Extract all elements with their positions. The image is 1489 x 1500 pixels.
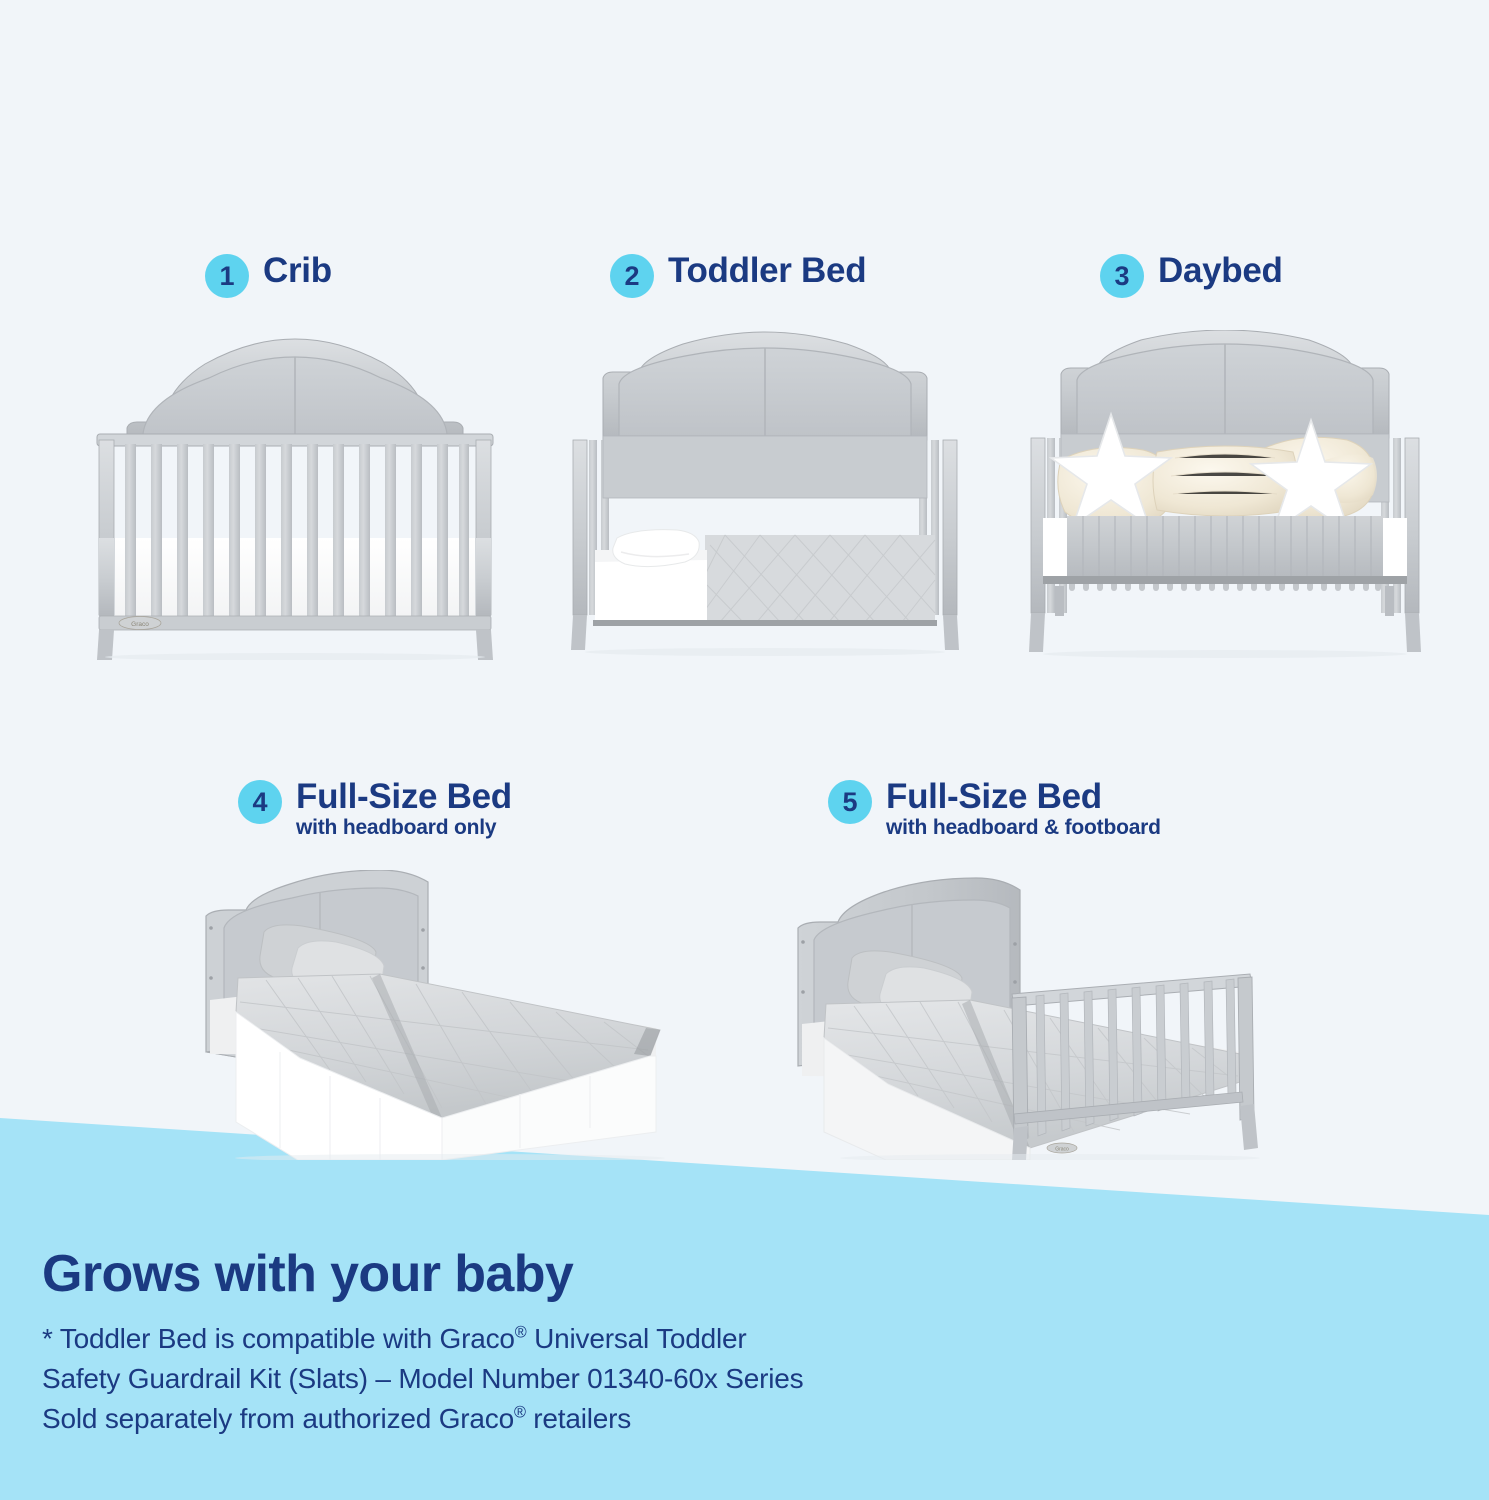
footer-line-3: Sold separately from authorized Graco® r… xyxy=(42,1399,803,1439)
footer-line-3-a: Sold separately from authorized Graco xyxy=(42,1403,514,1434)
step-title-5: Full-Size Bed xyxy=(886,778,1161,815)
step-text-4: Full-Size Bed with headboard only xyxy=(296,778,512,840)
infographic-page: 1 Crib xyxy=(0,0,1489,1500)
step-text-5: Full-Size Bed with headboard & footboard xyxy=(886,778,1161,840)
footer-line-3-b: retailers xyxy=(526,1403,631,1434)
footer-line-2: Safety Guardrail Kit (Slats) – Model Num… xyxy=(42,1359,803,1399)
footer-line-1: * Toddler Bed is compatible with Graco® … xyxy=(42,1319,803,1359)
step-label-5: 5 Full-Size Bed with headboard & footboa… xyxy=(828,778,1161,840)
step-label-1: 1 Crib xyxy=(205,252,332,298)
footer-block: Grows with your baby * Toddler Bed is co… xyxy=(42,1248,803,1438)
daybed-illustration xyxy=(1025,330,1425,660)
step-number-badge-2: 2 xyxy=(610,254,654,298)
registered-mark-2: ® xyxy=(514,1403,526,1421)
step-label-2: 2 Toddler Bed xyxy=(610,252,866,298)
step-subtitle-4: with headboard only xyxy=(296,816,512,840)
step-title-3: Daybed xyxy=(1158,252,1283,289)
step-title-1: Crib xyxy=(263,252,332,289)
step-label-4: 4 Full-Size Bed with headboard only xyxy=(238,778,512,840)
step-label-3: 3 Daybed xyxy=(1100,252,1283,298)
step-title-2: Toddler Bed xyxy=(668,252,866,289)
step-text-3: Daybed xyxy=(1158,252,1283,289)
step-subtitle-5: with headboard & footboard xyxy=(886,816,1161,840)
graco-logo-text-footboard: Graco xyxy=(1055,1147,1069,1153)
step-title-4: Full-Size Bed xyxy=(296,778,512,815)
step-number-badge-3: 3 xyxy=(1100,254,1144,298)
full-size-bed-headboard-illustration xyxy=(180,870,690,1160)
footer-line-1-b: Universal Toddler xyxy=(527,1323,747,1354)
step-text-2: Toddler Bed xyxy=(668,252,866,289)
full-size-bed-headboard-footboard-illustration: Graco xyxy=(780,870,1290,1160)
footer-line-1-a: * Toddler Bed is compatible with Graco xyxy=(42,1323,515,1354)
step-number-badge-4: 4 xyxy=(238,780,282,824)
graco-logo-text: Graco xyxy=(131,621,149,628)
footer-disclaimer: * Toddler Bed is compatible with Graco® … xyxy=(42,1319,803,1438)
step-text-1: Crib xyxy=(263,252,332,289)
step-number-badge-1: 1 xyxy=(205,254,249,298)
toddler-bed-illustration xyxy=(565,330,965,660)
registered-mark-1: ® xyxy=(515,1324,527,1342)
footer-heading: Grows with your baby xyxy=(42,1248,803,1300)
step-number-badge-5: 5 xyxy=(828,780,872,824)
crib-illustration: Graco xyxy=(85,330,505,660)
